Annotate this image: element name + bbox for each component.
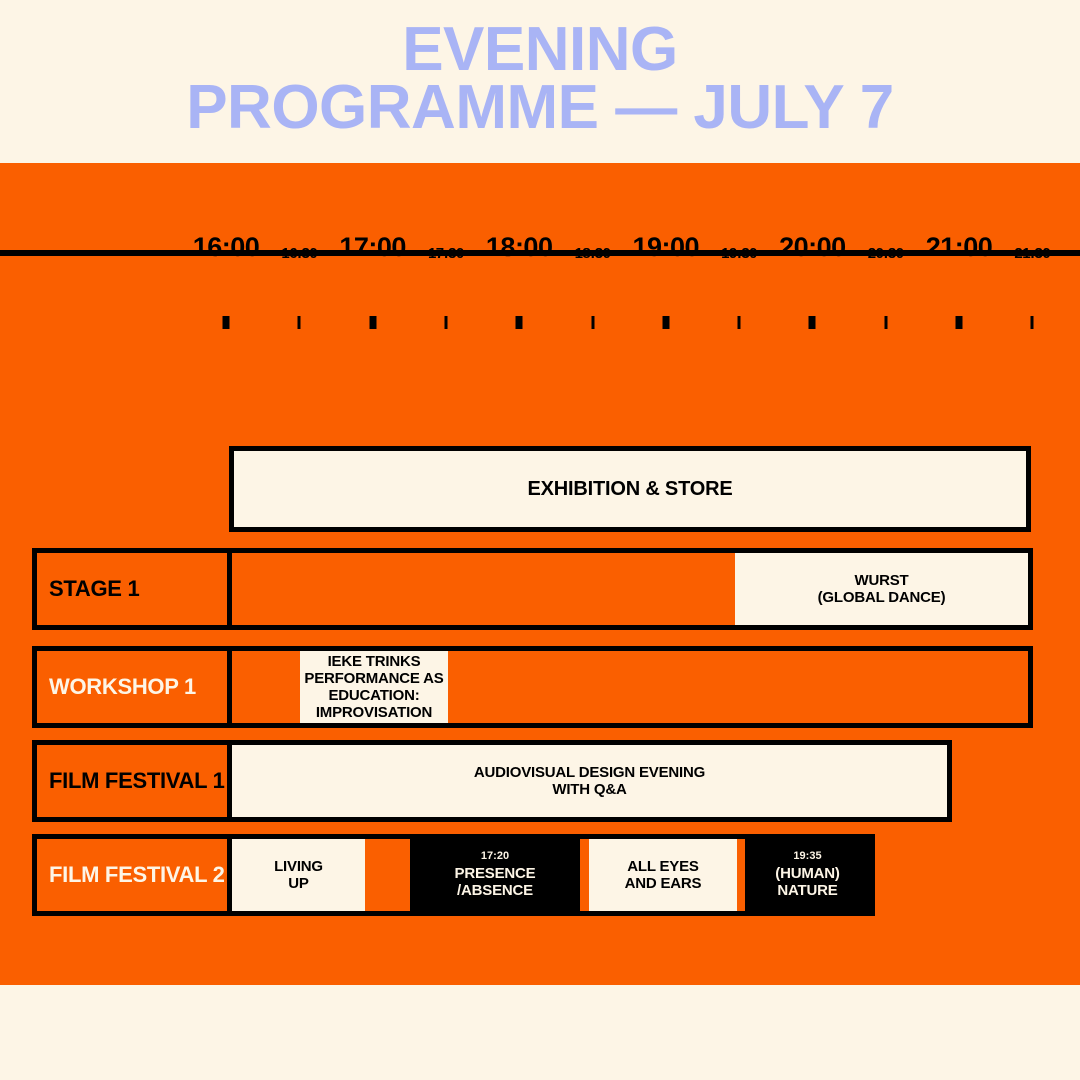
axis-tick-mark: [738, 316, 741, 329]
row-workshop-1: WORKSHOP 1 IEKE TRINKS PERFORMANCE AS ED…: [32, 646, 1033, 728]
axis-tick-mark: [369, 316, 376, 329]
row-label-text: WORKSHOP 1: [49, 674, 196, 700]
row-label-film-festival-2: FILM FESTIVAL 2: [37, 839, 232, 911]
axis-tick-label: 17:00: [339, 232, 406, 263]
event-name: IEKE TRINKS PERFORMANCE AS EDUCATION: IM…: [304, 653, 443, 722]
event-block-all-eyes-and-ears[interactable]: ALL EYES AND EARS: [589, 839, 737, 911]
axis-tick-mark: [298, 316, 301, 329]
event-name: LIVING UP: [274, 858, 323, 893]
row-film-festival-2: FILM FESTIVAL 2 LIVING UP 17:20 PRESENCE…: [32, 834, 875, 916]
event-block-human-nature[interactable]: 19:35 (HUMAN) NATURE: [745, 839, 870, 911]
axis-tick-mark: [956, 316, 963, 329]
event-name: ALL EYES AND EARS: [625, 858, 702, 893]
exhibition-label: EXHIBITION & STORE: [528, 478, 733, 501]
exhibition-block[interactable]: EXHIBITION & STORE: [229, 446, 1031, 532]
event-name: AUDIOVISUAL DESIGN EVENING WITH Q&A: [474, 764, 705, 799]
schedule-panel: 16:0016:3017:0017:3018:0018:3019:0019:30…: [0, 163, 1080, 985]
event-name: PRESENCE /ABSENCE: [455, 865, 536, 900]
time-axis-line: [0, 250, 1080, 256]
row-label-workshop-1: WORKSHOP 1: [37, 651, 232, 723]
event-block-wurst[interactable]: WURST (GLOBAL DANCE): [735, 553, 1028, 625]
axis-tick-label: 21:00: [926, 232, 993, 263]
row-label-text: FILM FESTIVAL 2: [49, 862, 225, 888]
footer-band: [0, 985, 1080, 1080]
axis-tick-mark: [223, 316, 230, 329]
axis-tick-mark: [591, 316, 594, 329]
row-film-festival-1: FILM FESTIVAL 1 AUDIOVISUAL DESIGN EVENI…: [32, 740, 952, 822]
event-name: (HUMAN) NATURE: [775, 865, 839, 900]
axis-tick-mark: [662, 316, 669, 329]
axis-tick-mark: [884, 316, 887, 329]
axis-tick-label: 16:00: [193, 232, 260, 263]
axis-tick-label: 18:00: [486, 232, 553, 263]
row-label-text: FILM FESTIVAL 1: [49, 768, 225, 794]
row-label-stage-1: STAGE 1: [37, 553, 232, 625]
axis-tick-label: 20:00: [779, 232, 846, 263]
time-axis: 16:0016:3017:0017:3018:0018:3019:0019:30…: [0, 223, 1080, 263]
event-block-ieke-trinks[interactable]: IEKE TRINKS PERFORMANCE AS EDUCATION: IM…: [300, 651, 448, 723]
event-time: 19:35: [793, 850, 821, 863]
event-name: WURST (GLOBAL DANCE): [818, 572, 946, 607]
row-label-text: STAGE 1: [49, 576, 139, 602]
event-block-living-up[interactable]: LIVING UP: [232, 839, 365, 911]
axis-tick-mark: [809, 316, 816, 329]
row-label-film-festival-1: FILM FESTIVAL 1: [37, 745, 232, 817]
event-block-presence-absence[interactable]: 17:20 PRESENCE /ABSENCE: [410, 839, 580, 911]
axis-tick-mark: [1031, 316, 1034, 329]
event-block-audiovisual-design-evening[interactable]: AUDIOVISUAL DESIGN EVENING WITH Q&A: [232, 745, 947, 817]
axis-tick-mark: [516, 316, 523, 329]
row-stage-1: STAGE 1 WURST (GLOBAL DANCE): [32, 548, 1033, 630]
page-header: EVENING PROGRAMME — JULY 7: [0, 0, 1080, 163]
axis-tick-mark: [444, 316, 447, 329]
page-title: EVENING PROGRAMME — JULY 7: [186, 21, 894, 141]
axis-tick-label: 19:00: [633, 232, 700, 263]
event-time: 17:20: [481, 850, 509, 863]
